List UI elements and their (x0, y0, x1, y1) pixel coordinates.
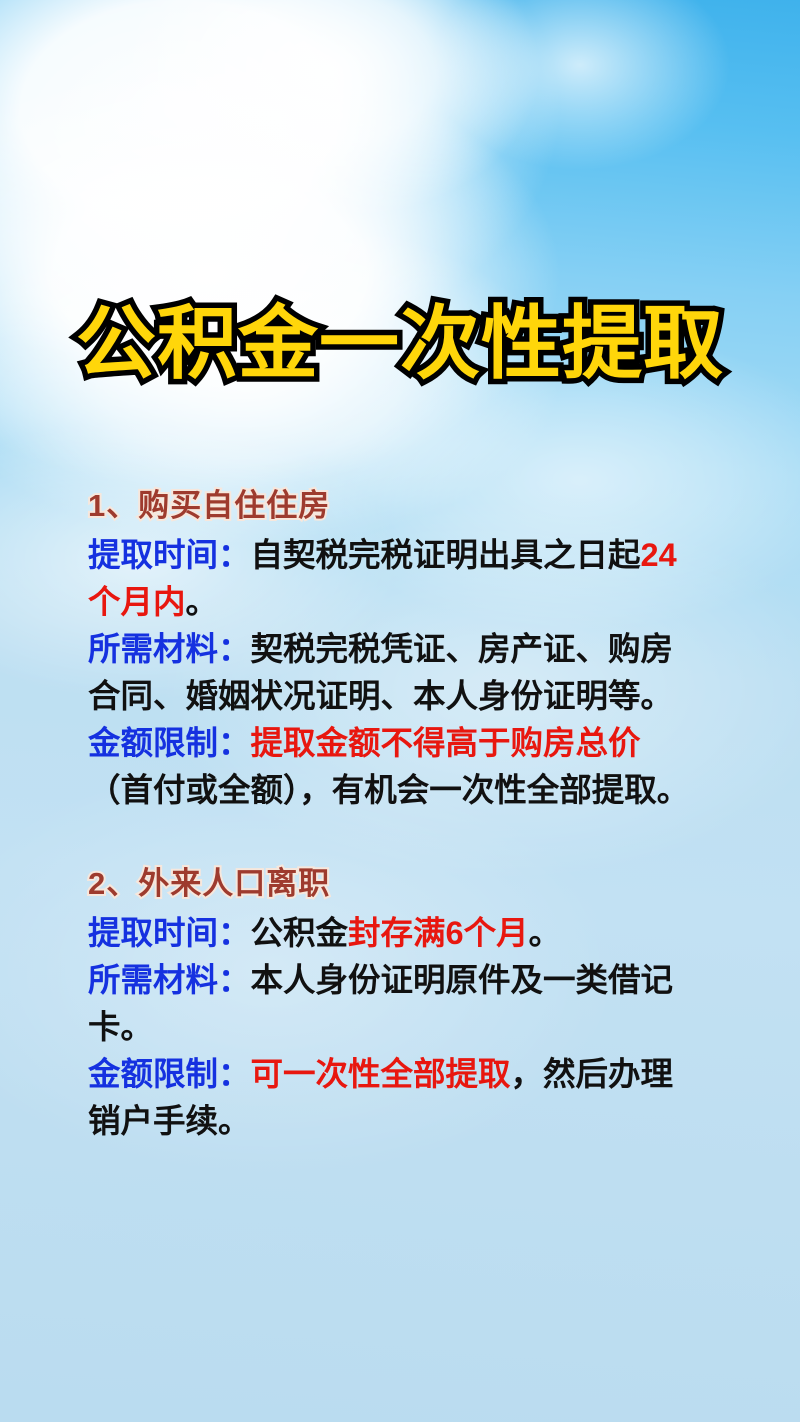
field-label: 提取时间： (88, 537, 251, 573)
field-row: 所需材料：本人身份证明原件及一类借记卡。 (88, 957, 704, 1051)
poster-canvas: 公积金一次性提取 1、购买自住住房提取时间：自契税完税证明出具之日起24个月内。… (0, 0, 800, 1422)
cloud-blob (0, 60, 560, 490)
poster-body: 1、购买自住住房提取时间：自契税完税证明出具之日起24个月内。所需材料：契税完税… (88, 486, 704, 1145)
field-row: 提取时间：公积金封存满6个月。 (88, 910, 704, 957)
field-label: 所需材料： (88, 962, 251, 998)
cloud-blob (120, 0, 540, 220)
cloud-blob (430, 0, 730, 170)
field-value-text: 。 (186, 584, 219, 620)
field-label: 金额限制： (88, 1056, 251, 1092)
field-value-emphasis: 封存满6个月 (348, 915, 529, 951)
field-label: 金额限制： (88, 725, 251, 761)
field-label: 所需材料： (88, 631, 251, 667)
section-heading: 2、外来人口离职 (88, 864, 704, 904)
field-row: 金额限制：提取金额不得高于购房总价（首付或全额），有机会一次性全部提取。 (88, 720, 704, 814)
field-value-text: 自契税完税证明出具之日起 (251, 537, 641, 573)
field-label: 提取时间： (88, 915, 251, 951)
field-value-text: 公积金 (251, 915, 349, 951)
field-value-text: （首付或全额），有机会一次性全部提取。 (88, 772, 689, 808)
section-1: 1、购买自住住房提取时间：自契税完税证明出具之日起24个月内。所需材料：契税完税… (88, 486, 704, 814)
section-2: 2、外来人口离职提取时间：公积金封存满6个月。所需材料：本人身份证明原件及一类借… (88, 864, 704, 1145)
poster-title: 公积金一次性提取 (0, 296, 800, 392)
section-heading: 1、购买自住住房 (88, 486, 704, 526)
field-value-text: 。 (529, 915, 562, 951)
field-row: 金额限制：可一次性全部提取，然后办理销户手续。 (88, 1051, 704, 1145)
field-row: 所需材料：契税完税凭证、房产证、购房合同、婚姻状况证明、本人身份证明等。 (88, 626, 704, 720)
field-value-emphasis: 提取金额不得高于购房总价 (251, 725, 641, 761)
field-row: 提取时间：自契税完税证明出具之日起24个月内。 (88, 532, 704, 626)
field-value-emphasis: 可一次性全部提取 (251, 1056, 511, 1092)
